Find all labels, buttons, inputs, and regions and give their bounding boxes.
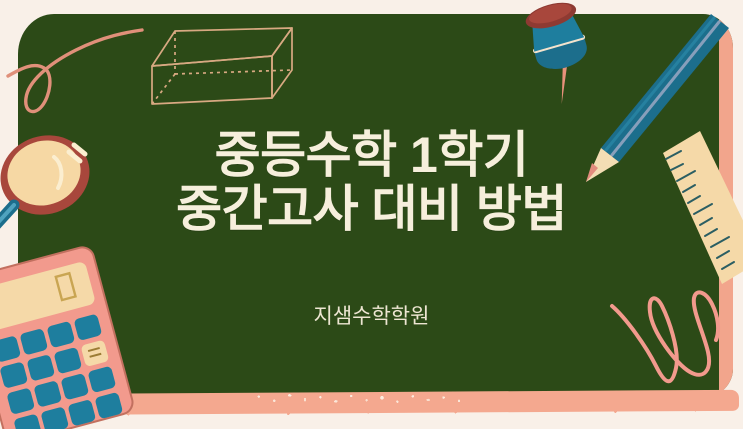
board-right-edge-strip xyxy=(719,14,733,399)
poster-canvas: 중등수학 1학기 중간고사 대비 방법 지샘수학학원 xyxy=(0,0,743,429)
chalkboard xyxy=(18,14,733,399)
poster-subtitle: 지샘수학학원 xyxy=(0,300,743,330)
chalk-dust xyxy=(250,393,470,405)
